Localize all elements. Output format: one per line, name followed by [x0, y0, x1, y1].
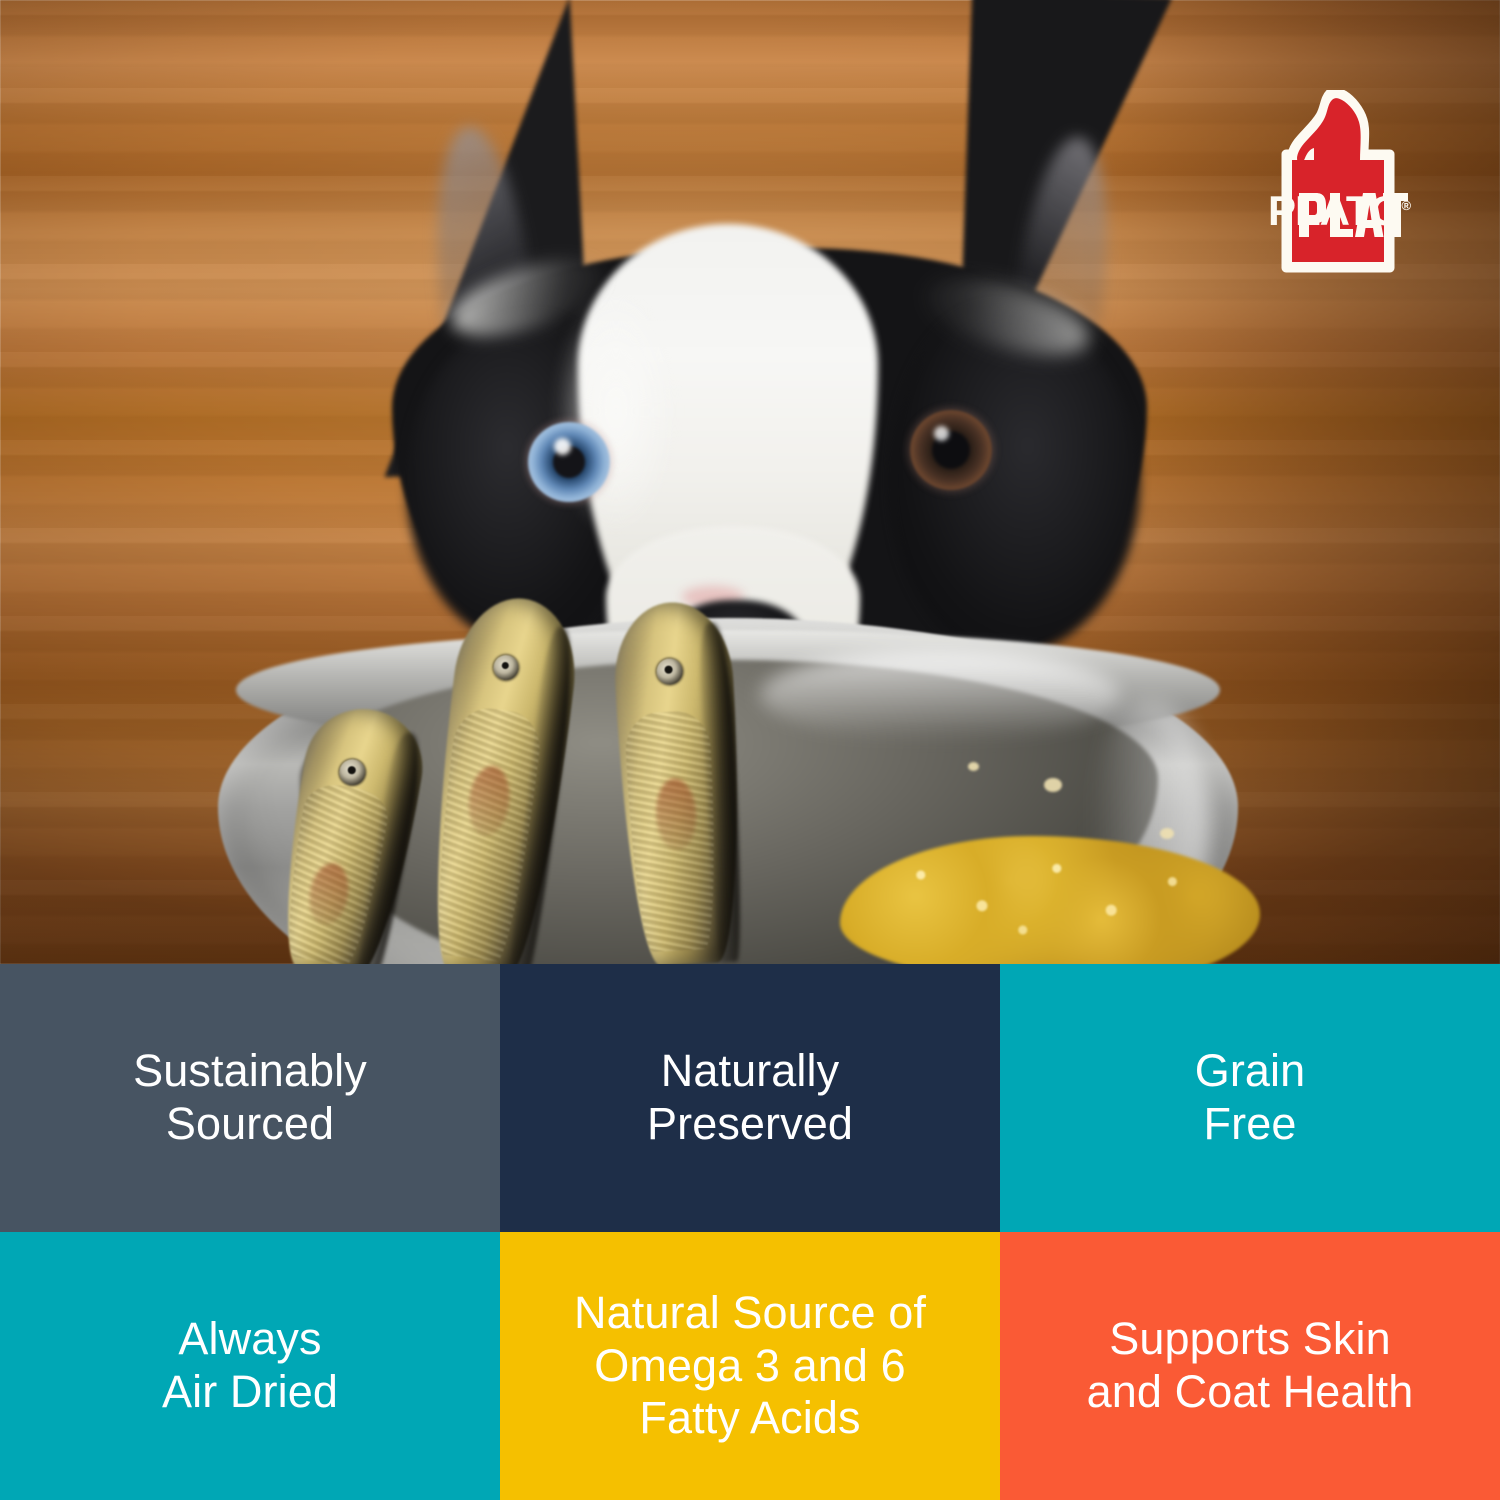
kibble-crumb: [1044, 778, 1062, 792]
tile-always-air-dried[interactable]: Always Air Dried: [0, 1232, 500, 1500]
tile-sustainably-sourced[interactable]: Sustainably Sourced: [0, 964, 500, 1232]
dried-sardine-fish: [611, 599, 748, 964]
bowl-highlight: [760, 650, 1120, 740]
logo-red-mark: [1292, 98, 1384, 262]
tile-naturally-preserved[interactable]: Naturally Preserved: [500, 964, 1000, 1232]
tile-label: Sustainably Sourced: [133, 1045, 367, 1150]
tile-omega-fatty-acids[interactable]: Natural Source of Omega 3 and 6 Fatty Ac…: [500, 1232, 1000, 1500]
kibble-crumbs: [880, 842, 1220, 952]
dog-brown-eye: [910, 410, 992, 490]
tile-label: Supports Skin and Coat Health: [1087, 1313, 1414, 1418]
tile-label: Natural Source of Omega 3 and 6 Fatty Ac…: [574, 1287, 926, 1445]
kibble-crumb: [1160, 828, 1174, 839]
product-feature-graphic: PLATO® Sustainably Sourced Naturally Pre…: [0, 0, 1500, 1500]
dog-blue-eye: [528, 422, 610, 502]
logo-wordmark-text: PLATO®: [1268, 190, 1408, 232]
feature-tile-grid: Sustainably Sourced Naturally Preserved …: [0, 964, 1500, 1500]
tile-skin-coat-health[interactable]: Supports Skin and Coat Health: [1000, 1232, 1500, 1500]
tile-label: Always Air Dried: [162, 1313, 338, 1418]
logo-registered-mark: ®: [1401, 198, 1410, 213]
tile-label: Naturally Preserved: [647, 1045, 853, 1150]
kibble-crumb: [968, 762, 979, 771]
tile-label: Grain Free: [1195, 1045, 1306, 1150]
hero-photo: PLATO®: [0, 0, 1500, 964]
tile-grain-free[interactable]: Grain Free: [1000, 964, 1500, 1232]
plato-logo: PLATO®: [1268, 90, 1408, 275]
